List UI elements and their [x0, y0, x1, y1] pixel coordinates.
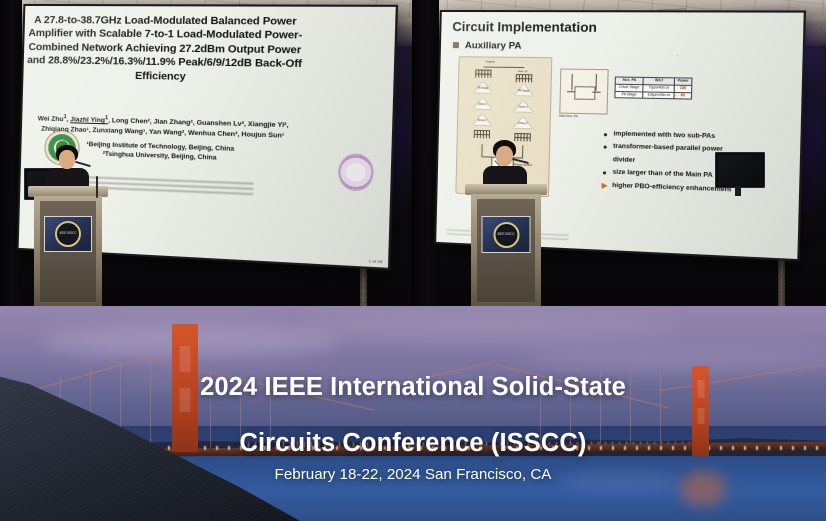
schematic-wire-in: [567, 91, 575, 92]
table-cell: PA Stage: [615, 91, 643, 99]
slide-title-left: A 27.8-to-38.7GHz Load-Modulated Balance…: [26, 14, 303, 86]
table-row: PA Stage 104µm/40n.m 60: [615, 91, 692, 99]
wire-a-down: [481, 144, 482, 156]
monitor-stand-right: [735, 186, 741, 196]
speaker-head-left: [59, 150, 75, 169]
stage-curtain-right: [413, 0, 439, 306]
transformer-a1: [475, 69, 491, 77]
driver1-a: Driver 1: [473, 98, 491, 109]
mic-stand-left: [96, 176, 98, 198]
driver2-a: Driver 2: [473, 114, 491, 126]
speaker-head-right: [496, 146, 513, 166]
schematic-wire-l: [571, 74, 572, 90]
isscc-logo-icon-left: IEEE ISSCC: [55, 221, 81, 247]
table-cell: 104µm/40n.m: [643, 92, 674, 100]
podium-right: IEEE ISSCC: [465, 184, 547, 306]
conference-photo-right: Circuit Implementation Auxiliary PA Outp…: [413, 0, 826, 306]
isscc-logo-text-right: IEEE ISSCC: [497, 233, 514, 237]
driver1-b: Driver 1: [514, 100, 533, 112]
podium-placard-left: IEEE ISSCC: [44, 216, 92, 252]
diagram-label-output: Output: [486, 60, 495, 64]
author-presenter: Jiazhi Ying1: [70, 116, 108, 124]
wire-top: [484, 67, 525, 69]
tsinghua-university-logo-icon: [339, 154, 373, 190]
pa-stage-b: PA Stage: [514, 84, 533, 95]
bullet-square-icon: [453, 42, 459, 48]
pa-stage-a: PA Stage: [474, 82, 492, 93]
table-cell: 60: [674, 92, 692, 99]
confidence-monitor-right: [715, 152, 765, 188]
photo-divider: [412, 0, 414, 306]
stage-curtain-left: [0, 0, 22, 306]
cloud-2: [300, 312, 680, 342]
conference-montage: A 27.8-to-38.7GHz Load-Modulated Balance…: [0, 0, 826, 521]
podium-left: IEEE ISSCC: [28, 186, 108, 306]
isscc-logo-icon-right: IEEE ISSCC: [493, 222, 519, 248]
driver2-b: Driver 2: [514, 117, 533, 129]
slide-page-number-left: 1 of 28: [368, 258, 382, 264]
diagram-label-aux-in: Aux. In: [518, 69, 528, 73]
conference-photo-left: A 27.8-to-38.7GHz Load-Modulated Balance…: [0, 0, 413, 306]
diagram-label-main-aux-pa: Main/Aux. PA: [559, 114, 578, 119]
wire-b-down: [522, 145, 523, 157]
isscc-2024-banner: 2024 IEEE International Solid-State Circ…: [0, 306, 826, 521]
schematic-wire-out: [592, 92, 600, 93]
photo-strip: A 27.8-to-38.7GHz Load-Modulated Balance…: [0, 0, 826, 306]
transformer-b2: [514, 133, 531, 142]
banner-title-line2: Circuits Conference (ISSCC): [0, 419, 826, 468]
author-first: Wei Zhu1,: [38, 116, 71, 124]
transformer-b1: [516, 74, 533, 82]
slide-affiliations-left: ¹Beijing Institute of Technology, Beijin…: [49, 139, 274, 165]
banner-title-line1: 2024 IEEE International Solid-State: [0, 363, 826, 412]
schematic-wire-r: [595, 74, 596, 91]
banner-subtitle: February 18-22, 2024 San Francisco, CA: [0, 466, 826, 483]
slide-subtitle-right: Auxiliary PA: [465, 40, 522, 52]
slide-title-right: Circuit Implementation: [452, 19, 597, 35]
main-aux-pa-schematic: [559, 69, 608, 115]
podium-placard-right: IEEE ISSCC: [482, 216, 531, 253]
transformer-a2: [474, 130, 490, 138]
aux-pa-parameter-table: Aux. PA W/Lf Power Driver Stage 70µm/40n…: [614, 76, 692, 100]
schematic-core: [574, 86, 595, 100]
isscc-logo-text-left: IEEE ISSCC: [59, 232, 76, 236]
